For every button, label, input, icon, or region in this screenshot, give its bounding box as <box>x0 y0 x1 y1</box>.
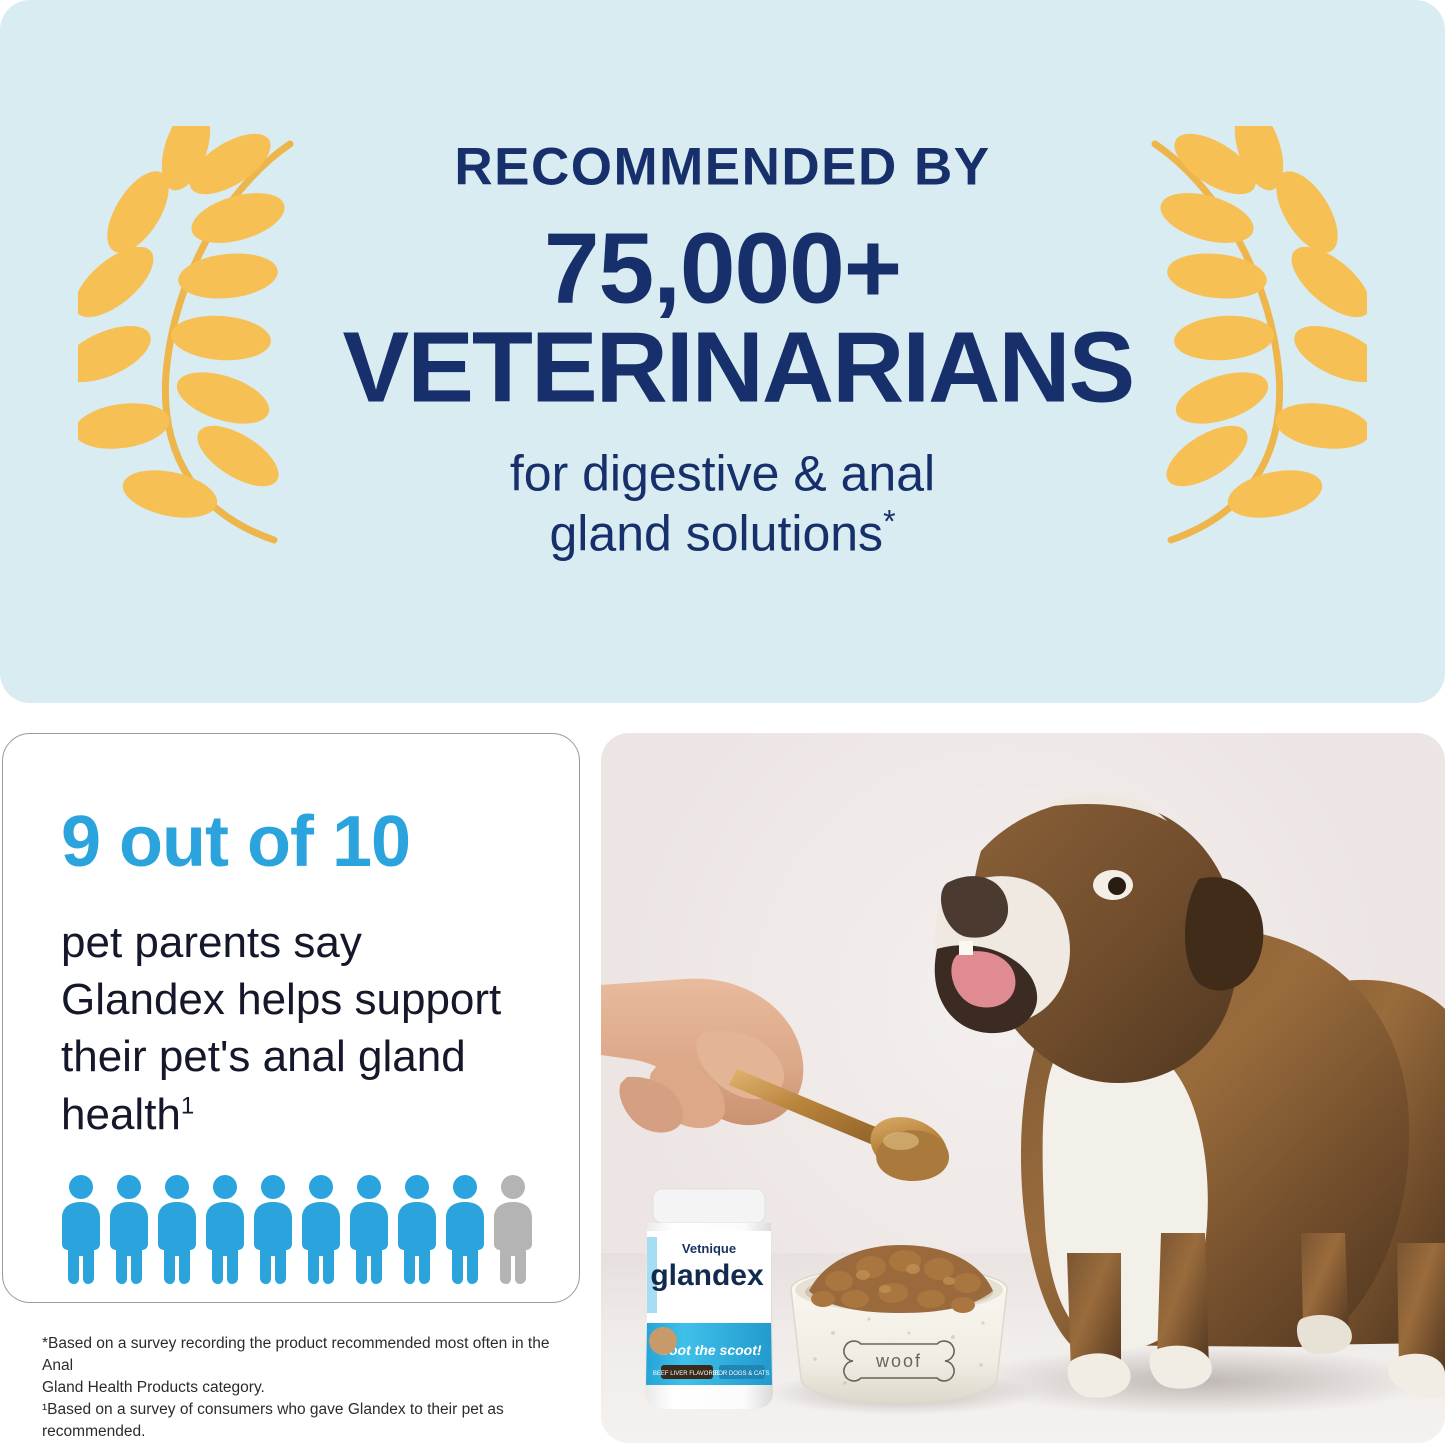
banner-vet-count: 75,000+ <box>343 221 1103 316</box>
pet-parent-stat-card: 9 out of 10 pet parents say Glandex help… <box>2 733 580 1303</box>
svg-text:woof: woof <box>875 1351 922 1371</box>
person-figure-icon <box>59 1174 103 1286</box>
person-figure-icon <box>491 1174 535 1286</box>
laurel-branch-icon <box>78 126 318 551</box>
footnote-line-2: Gland Health Products category. <box>42 1377 562 1399</box>
person-figure-icon <box>299 1174 343 1286</box>
veterinarian-recommendation-banner: RECOMMENDED BY 75,000+ VETERINARIANS for… <box>0 0 1445 703</box>
footnote-one-marker: 1 <box>181 1092 194 1119</box>
person-figure-icon <box>395 1174 439 1286</box>
person-figure-icon <box>251 1174 295 1286</box>
people-pictogram-row <box>59 1174 535 1286</box>
laurel-branch-icon <box>1127 126 1367 551</box>
banner-eyebrow: RECOMMENDED BY <box>343 140 1103 193</box>
person-figure-icon <box>203 1174 247 1286</box>
stat-headline: 9 out of 10 <box>61 806 410 878</box>
dog-photo <box>935 794 1445 1398</box>
footnote-asterisk-marker: * <box>883 503 895 539</box>
person-figure-icon <box>155 1174 199 1286</box>
stat-body-text: pet parents say Glandex helps support th… <box>61 914 531 1143</box>
svg-text:glandex: glandex <box>650 1259 764 1292</box>
footnote-line-3: ¹Based on a survey of consumers who gave… <box>42 1399 562 1443</box>
stat-body-copy: pet parents say Glandex helps support th… <box>61 918 501 1139</box>
svg-text:ANAL GLAND: ANAL GLAND <box>658 1296 757 1313</box>
banner-text-block: RECOMMENDED BY 75,000+ VETERINARIANS for… <box>343 140 1103 563</box>
svg-text:FOR DOGS & CATS: FOR DOGS & CATS <box>715 1371 770 1377</box>
banner-subject: VETERINARIANS <box>343 316 1103 418</box>
banner-subline-2-text: gland solutions <box>549 505 883 561</box>
glandex-bottle: Vetnique glandex ANAL GLAND SUPPORT POWD… <box>645 1189 773 1409</box>
footnote-line-1: *Based on a survey recording the product… <box>42 1333 562 1377</box>
product-lifestyle-photo: Vetnique glandex ANAL GLAND SUPPORT POWD… <box>601 733 1445 1443</box>
dog-bowl: woof <box>791 1245 1007 1403</box>
banner-subline-2: gland solutions* <box>343 503 1103 563</box>
svg-text:BEEF LIVER FLAVORED: BEEF LIVER FLAVORED <box>653 1371 722 1377</box>
svg-text:Vetnique: Vetnique <box>682 1241 736 1256</box>
person-figure-icon <box>443 1174 487 1286</box>
svg-text:SUPPORT POWDER: SUPPORT POWDER <box>659 1314 756 1325</box>
footnotes: *Based on a survey recording the product… <box>42 1333 562 1443</box>
person-figure-icon <box>107 1174 151 1286</box>
person-figure-icon <box>347 1174 391 1286</box>
banner-subline-1: for digestive & anal <box>343 444 1103 503</box>
bottom-content-row: 9 out of 10 pet parents say Glandex help… <box>0 733 1445 1443</box>
hand-with-spoon <box>601 979 957 1188</box>
